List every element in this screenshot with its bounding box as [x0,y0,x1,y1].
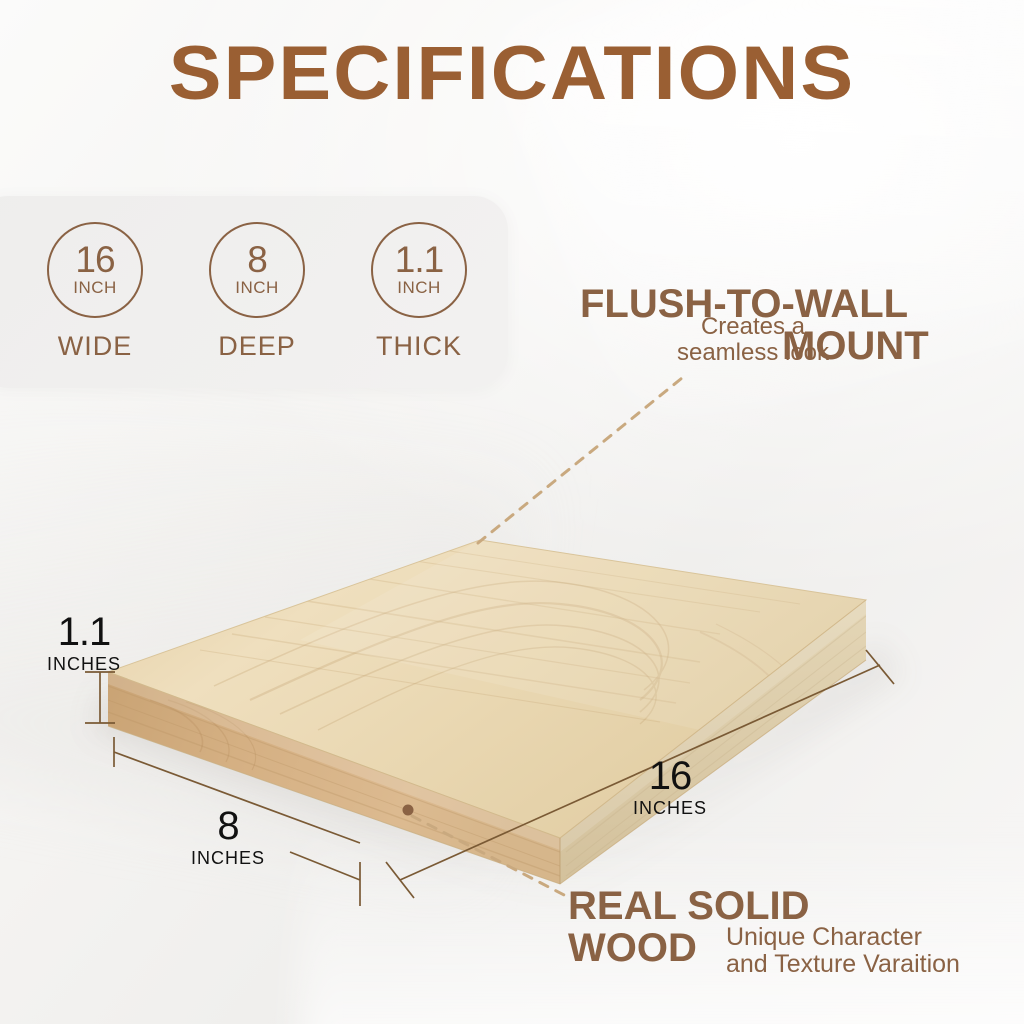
callout-subtext-line2: and Texture Varaition [726,951,1024,978]
callout-headline-row2: Creates a seamless look MOUNT [580,326,1000,374]
callout-headline-row2: WOOD Unique Character and Texture Varait… [568,928,1024,976]
infographic-canvas: SPECIFICATIONS 16 INCH WIDE 8 INCH DEEP … [0,0,1024,1024]
shelf-top-outline [108,540,866,838]
spec-badge-caption: DEEP [182,331,332,362]
callout-flush-to-wall-mount: FLUSH-TO-WALL Creates a seamless look MO… [580,282,1000,374]
dimension-label-thickness: 1.1 INCHES [38,612,130,674]
spec-badge-caption: THICK [344,331,494,362]
dimension-unit: INCHES [182,848,274,868]
shelf-front-top-edge [108,600,866,838]
page-title: SPECIFICATIONS [0,34,1024,114]
spec-badge-thick: 1.1 INCH THICK [344,222,494,362]
spec-badge-unit: INCH [397,278,441,297]
callout-headline-line1: REAL SOLID [568,884,1024,928]
dimension-line-depth-b [290,852,360,880]
dimension-unit: INCHES [620,798,720,818]
dimension-value: 1.1 [38,612,130,652]
callout-headline-line2: MOUNT [782,324,929,368]
callout-subtext-line1: Unique Character [726,924,1024,951]
spec-badge-unit: INCH [73,278,117,297]
dimension-label-width: 16 INCHES [620,756,720,818]
shelf-top-face [108,540,866,838]
leader-anchor-dot [403,805,414,816]
shelf-front-face [108,672,560,884]
spec-badge-wide: 16 INCH WIDE [20,222,170,362]
dimension-value: 8 [182,806,274,846]
dimension-value: 16 [620,756,720,796]
spec-badge-deep: 8 INCH DEEP [182,222,332,362]
spec-badge-value: 8 [247,243,267,277]
callout-headline-line2: WOOD [568,926,697,970]
shelf-end-face [560,600,866,884]
spec-badge-ring: 16 INCH [47,222,143,318]
dimension-unit: INCHES [38,654,130,674]
specification-panel: 16 INCH WIDE 8 INCH DEEP 1.1 INCH THICK [0,196,508,388]
spec-badge-value: 16 [75,243,114,277]
callout-real-solid-wood: REAL SOLID WOOD Unique Character and Tex… [568,884,1024,976]
spec-badge-unit: INCH [235,278,279,297]
spec-badge-ring: 8 INCH [209,222,305,318]
leader-line-wood [412,816,566,896]
dimension-cap-width-left [386,862,414,898]
spec-badge-caption: WIDE [20,331,170,362]
spec-badge-ring: 1.1 INCH [371,222,467,318]
dimension-label-depth: 8 INCHES [182,806,274,868]
leader-lines [412,378,682,896]
spec-badge-value: 1.1 [395,243,443,277]
product-illustration [0,0,1024,1024]
dimension-cap-width-right [866,650,894,684]
leader-line-mount [478,378,682,543]
callout-subtext: Unique Character and Texture Varaition [726,924,1024,978]
